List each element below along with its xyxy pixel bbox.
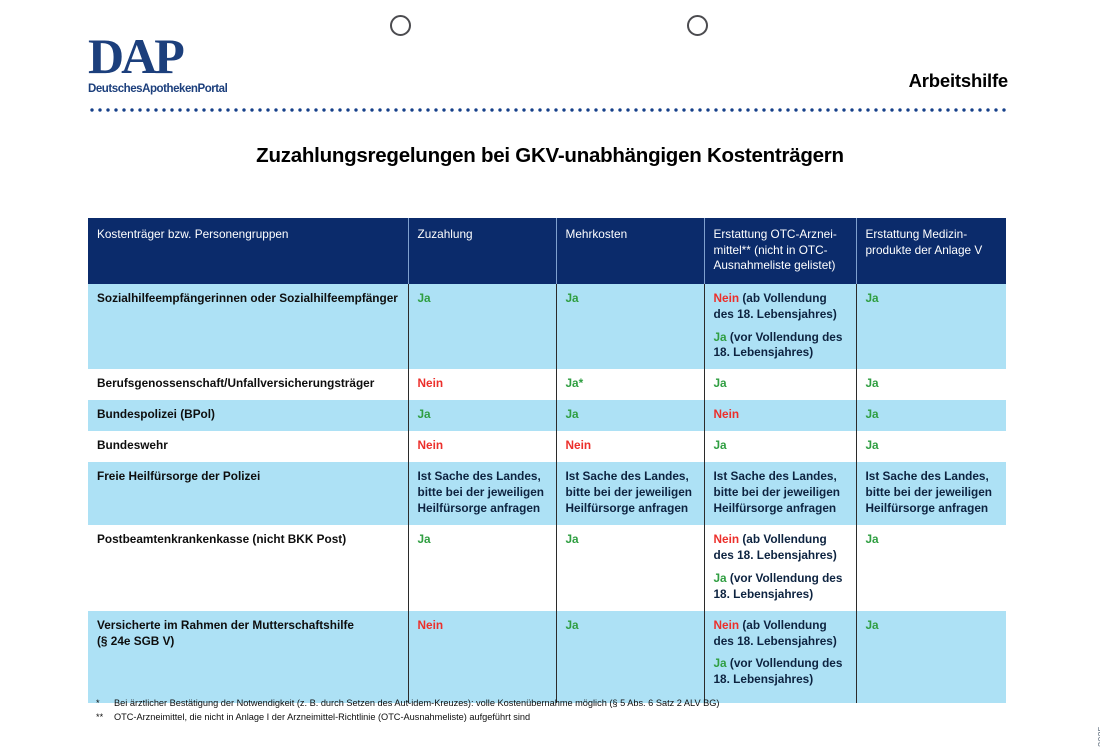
cell-mehrkosten: Ja [556, 611, 704, 703]
cell-erstattung-otc: Nein [704, 400, 856, 431]
row-label: Bundespolizei (BPol) [88, 400, 408, 431]
footnote-marker: * [96, 697, 114, 711]
document-page: DAP DeutschesApothekenPortal Arbeitshilf… [0, 0, 1100, 748]
cell-erstattung-medizinprodukte: Ja [856, 369, 1006, 400]
table-row: Bundespolizei (BPol)JaJaNeinJa [88, 400, 1006, 431]
cell-note: Ist Sache des Landes, bitte bei der jewe… [566, 469, 693, 515]
cell-value: Ja [866, 618, 879, 632]
table-body: Sozialhilfeempfängerinnen oder Sozialhil… [88, 284, 1006, 703]
cell-zuzahlung: Ist Sache des Landes, bitte bei der jewe… [408, 462, 556, 525]
footnote-text: Bei ärztlicher Bestätigung der Notwendig… [114, 697, 976, 711]
document-kind-label: Arbeitshilfe [909, 70, 1008, 92]
cell-mehrkosten: Ja [556, 525, 704, 611]
table-header-row: Kostenträger bzw. Personengruppen Zuzahl… [88, 218, 1006, 284]
table-row: Freie Heilfürsorge der PolizeiIst Sache … [88, 462, 1006, 525]
page-title: Zuzahlungsregelungen bei GKV-unabhängige… [0, 144, 1100, 168]
footnote-item: ** OTC-Arzneimittel, die nicht in Anlage… [96, 711, 976, 725]
cell-mehrkosten: Ist Sache des Landes, bitte bei der jewe… [556, 462, 704, 525]
cell-erstattung-medizinprodukte: Ja [856, 611, 1006, 703]
cell-zuzahlung: Nein [408, 431, 556, 462]
cell-value: Nein [418, 376, 444, 390]
cell-value: Ja [418, 291, 431, 305]
cell-mehrkosten: Ja [556, 400, 704, 431]
cell-value: Nein [714, 407, 740, 421]
cell-value: Ja [866, 407, 879, 421]
cell-erstattung-medizinprodukte: Ja [856, 431, 1006, 462]
cell-erstattung-otc: Ja [704, 369, 856, 400]
cell-note: (vor Vollendung des 18. Lebensjahres) [714, 330, 843, 360]
cell-value: Ja [714, 438, 727, 452]
copyright-notice: © DAP Networks GmbH / ohne Gewähr / Stan… [1096, 726, 1100, 748]
row-label: Postbeamtenkrankenkasse (nicht BKK Post) [88, 525, 408, 611]
footnote-item: * Bei ärztlicher Bestätigung der Notwend… [96, 697, 976, 711]
cell-zuzahlung: Nein [408, 369, 556, 400]
cell-mehrkosten: Ja [556, 284, 704, 370]
cell-note: (vor Vollendung des 18. Lebensjahres) [714, 571, 843, 601]
col-header-mehrkosten: Mehrkosten [556, 218, 704, 284]
footnote-text: OTC-Arzneimittel, die nicht in Anlage I … [114, 711, 976, 725]
document-header: DAP DeutschesApothekenPortal Arbeitshilf… [88, 32, 1008, 112]
col-header-kostentraeger: Kostenträger bzw. Personengruppen [88, 218, 408, 284]
footnote-marker: ** [96, 711, 114, 725]
table-row: Versicherte im Rahmen der Mutterschaftsh… [88, 611, 1006, 703]
cell-zuzahlung: Ja [408, 284, 556, 370]
cell-value: Ja [866, 291, 879, 305]
table-header: Kostenträger bzw. Personengruppen Zuzahl… [88, 218, 1006, 284]
cell-value: Ja [714, 656, 727, 670]
cell-value: Ja [714, 376, 727, 390]
col-header-erstattung-medizinprodukte: Erstattung Medizin-produkte der Anlage V [856, 218, 1006, 284]
logo-wordmark: DAP [88, 32, 328, 81]
cell-value: Ja [566, 618, 579, 632]
cell-note: Ist Sache des Landes, bitte bei der jewe… [418, 469, 545, 515]
table-row: Postbeamtenkrankenkasse (nicht BKK Post)… [88, 525, 1006, 611]
cell-value: Ja [566, 407, 579, 421]
row-label: Sozialhilfeempfängerinnen oder Sozialhil… [88, 284, 408, 370]
row-label: Versicherte im Rahmen der Mutterschaftsh… [88, 611, 408, 703]
row-label: Freie Heilfürsorge der Polizei [88, 462, 408, 525]
cell-value: Ja [714, 330, 727, 344]
cell-erstattung-medizinprodukte: Ja [856, 400, 1006, 431]
cell-value: Ja [866, 376, 879, 390]
cell-value: Ja [866, 438, 879, 452]
col-header-erstattung-otc: Erstattung OTC-Arznei-mittel** (nicht in… [704, 218, 856, 284]
cell-erstattung-otc: Nein (ab Vollendung des 18. Lebensjahres… [704, 525, 856, 611]
cell-note: Ist Sache des Landes, bitte bei der jewe… [866, 469, 993, 515]
dap-logo: DAP DeutschesApothekenPortal [88, 32, 328, 95]
cell-value: Ja [566, 291, 579, 305]
footnotes: * Bei ärztlicher Bestätigung der Notwend… [96, 697, 976, 725]
cell-value: Nein [566, 438, 592, 452]
col-header-zuzahlung: Zuzahlung [408, 218, 556, 284]
header-dotted-divider [88, 108, 1008, 112]
cell-note: (vor Vollendung des 18. Lebensjahres) [714, 656, 843, 686]
cell-erstattung-medizinprodukte: Ist Sache des Landes, bitte bei der jewe… [856, 462, 1006, 525]
cell-value: Ja [866, 532, 879, 546]
row-label: Berufsgenossenschaft/Unfallversicherungs… [88, 369, 408, 400]
cell-zuzahlung: Ja [408, 400, 556, 431]
cell-mehrkosten: Nein [556, 431, 704, 462]
table-row: Berufsgenossenschaft/Unfallversicherungs… [88, 369, 1006, 400]
cell-erstattung-otc: Ist Sache des Landes, bitte bei der jewe… [704, 462, 856, 525]
cell-erstattung-medizinprodukte: Ja [856, 284, 1006, 370]
cell-value: Nein [418, 618, 444, 632]
cell-zuzahlung: Ja [408, 525, 556, 611]
table-row: BundeswehrNeinNeinJaJa [88, 431, 1006, 462]
cell-value: Ja [566, 532, 579, 546]
cell-value: Ja [714, 571, 727, 585]
cell-value: Ja [418, 407, 431, 421]
row-label: Bundeswehr [88, 431, 408, 462]
cell-value: Nein [714, 532, 740, 546]
cell-value: Nein [418, 438, 444, 452]
cell-value: Ja* [566, 376, 584, 390]
cell-value: Ja [418, 532, 431, 546]
cell-erstattung-medizinprodukte: Ja [856, 525, 1006, 611]
regulations-table: Kostenträger bzw. Personengruppen Zuzahl… [88, 218, 1006, 703]
cell-value: Nein [714, 618, 740, 632]
cell-zuzahlung: Nein [408, 611, 556, 703]
table-row: Sozialhilfeempfängerinnen oder Sozialhil… [88, 284, 1006, 370]
cell-erstattung-otc: Ja [704, 431, 856, 462]
cell-value: Nein [714, 291, 740, 305]
cell-erstattung-otc: Nein (ab Vollendung des 18. Lebensjahres… [704, 284, 856, 370]
cell-mehrkosten: Ja* [556, 369, 704, 400]
logo-subtitle: DeutschesApothekenPortal [88, 83, 328, 95]
cell-erstattung-otc: Nein (ab Vollendung des 18. Lebensjahres… [704, 611, 856, 703]
